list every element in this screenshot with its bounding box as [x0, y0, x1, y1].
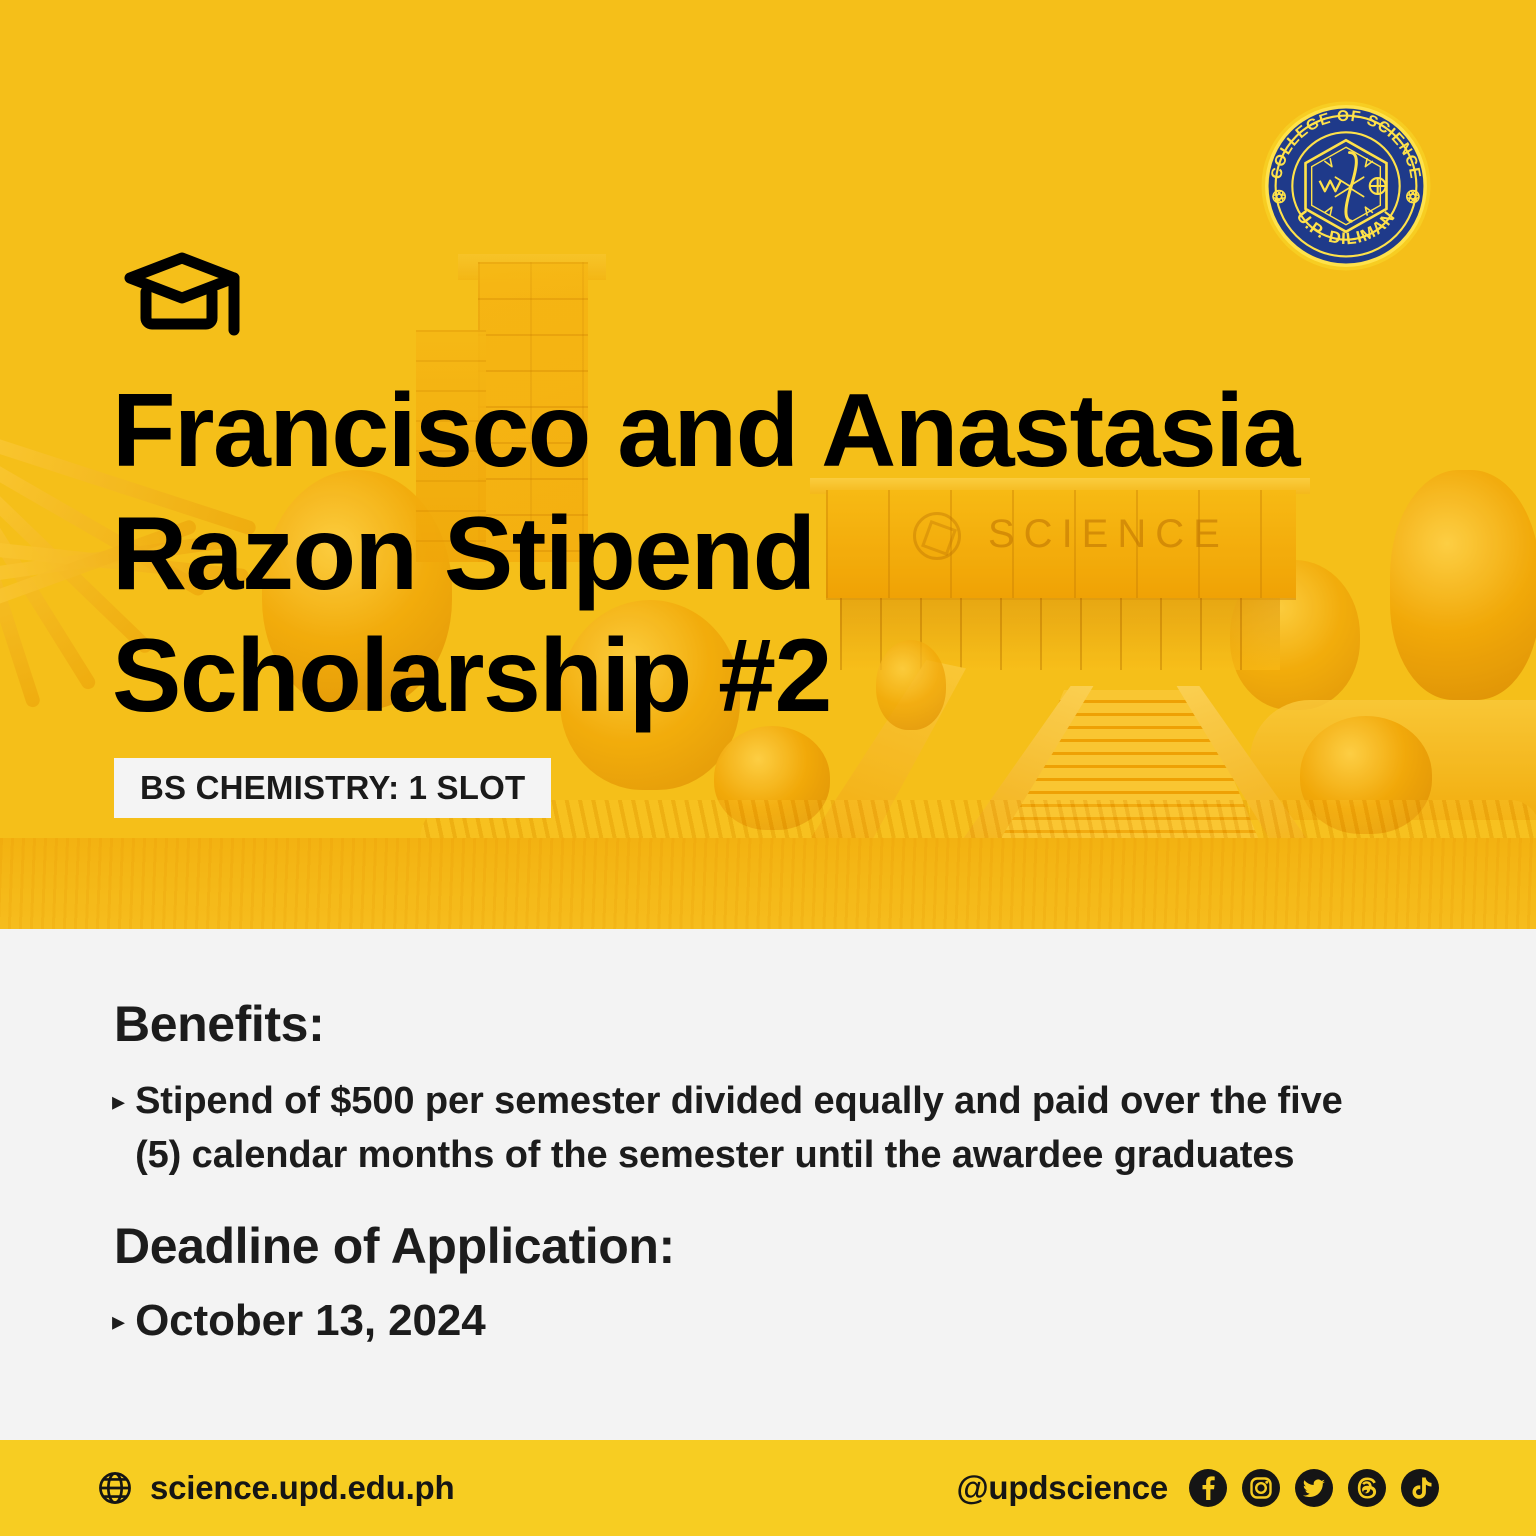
- tiktok-icon[interactable]: [1400, 1468, 1440, 1508]
- benefits-heading: Benefits:: [114, 995, 324, 1053]
- bullet-marker-icon: ▸: [112, 1295, 125, 1334]
- details-section: Benefits: ▸ Stipend of $500 per semester…: [0, 929, 1536, 1440]
- scholarship-poster: SCIENCE: [0, 0, 1536, 1536]
- instagram-icon[interactable]: [1241, 1468, 1281, 1508]
- facebook-icon[interactable]: [1188, 1468, 1228, 1508]
- footer-social-group: @updscience: [956, 1468, 1440, 1508]
- globe-icon: [96, 1469, 134, 1507]
- benefits-bullet-item: ▸ Stipend of $500 per semester divided e…: [112, 1075, 1452, 1183]
- slot-badge: BS CHEMISTRY: 1 SLOT: [114, 758, 551, 818]
- graduation-cap-icon: [120, 248, 250, 340]
- hero-banner: SCIENCE: [0, 0, 1536, 929]
- benefits-bullet-text: Stipend of $500 per semester divided equ…: [135, 1075, 1343, 1183]
- up-diliman-college-of-science-seal-icon: COLLEGE OF SCIENCE U.P. DILIMAN: [1258, 98, 1434, 274]
- threads-icon[interactable]: [1347, 1468, 1387, 1508]
- footer-handle-text: @updscience: [956, 1469, 1168, 1507]
- footer-bar: science.upd.edu.ph @updscience: [0, 1440, 1536, 1536]
- deadline-heading: Deadline of Application:: [114, 1217, 675, 1275]
- footer-website-text[interactable]: science.upd.edu.ph: [150, 1469, 454, 1507]
- deadline-bullet-item: ▸ October 13, 2024: [112, 1295, 1452, 1348]
- deadline-date-text: October 13, 2024: [135, 1295, 486, 1348]
- page-title: Francisco and Anastasia Razon Stipend Sc…: [112, 370, 1452, 738]
- twitter-icon[interactable]: [1294, 1468, 1334, 1508]
- bullet-marker-icon: ▸: [112, 1075, 125, 1114]
- footer-website-group[interactable]: science.upd.edu.ph: [96, 1469, 454, 1507]
